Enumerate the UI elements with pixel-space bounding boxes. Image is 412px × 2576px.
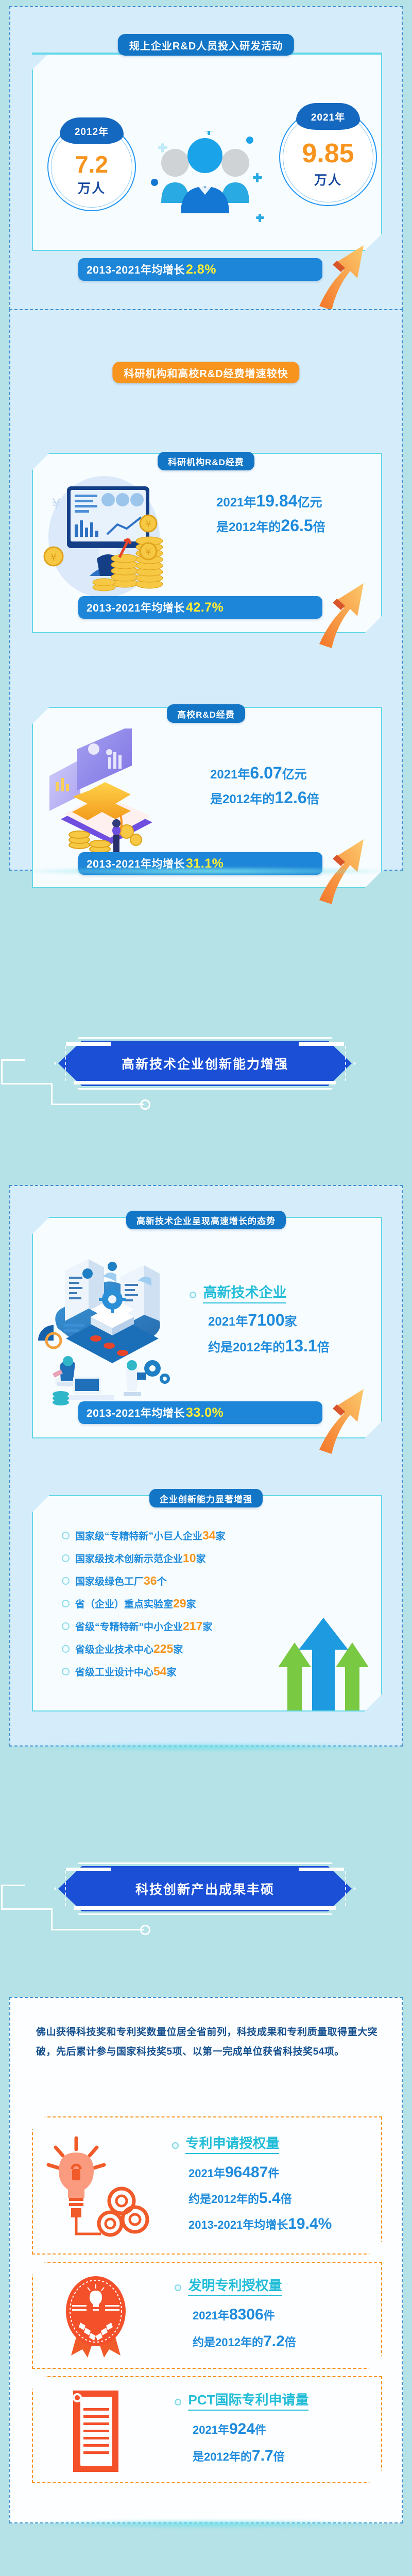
- stat-suffix: 倍: [307, 792, 319, 806]
- item-text: 国家级“专精特新”小巨人企业: [75, 1529, 202, 1543]
- chevron-dash-right: [345, 1871, 346, 1906]
- stat-prefix: 2021年: [216, 496, 256, 510]
- isometric-yen-illustration-icon: [40, 728, 174, 857]
- section4-panel-inner: 佛山获得科技奖和专利奖数量位居全省前列，科技成果和专利质量取得重大突破，先后累计…: [9, 1997, 403, 2523]
- section1-panel-inner: 规上企业R&D人员投入研发活动 7.2 万人 2012年 9.85 万人 202…: [9, 6, 403, 320]
- section1-title-pill: 规上企业R&D人员投入研发活动: [118, 34, 294, 56]
- list-item: 省（企业）重点实验室29家: [62, 1597, 340, 1611]
- section1-panel: 规上企业R&D人员投入研发活动 7.2 万人 2012年 9.85 万人 202…: [9, 6, 403, 320]
- monitor-coins-illustration-icon: ¥ ¥ ¥ ¥: [42, 475, 176, 604]
- chevron-tail: [0, 1041, 154, 1108]
- section4-paragraph: 佛山获得科技奖和专利奖数量位居全省前列，科技成果和专利质量取得重大突破，先后累计…: [36, 2023, 381, 2062]
- circle-value: 7.2: [47, 152, 136, 176]
- stat-prefix: 2013-2021年均增长: [188, 2218, 288, 2231]
- card-head-wrap: 专利申请授权量: [172, 2133, 279, 2154]
- card-stat-line: 2013-2021年均增长19.4%: [188, 2215, 332, 2233]
- section2-card1-stat2: 是2012年的26.5倍: [216, 516, 325, 535]
- card-stat-line: 约是2012年的7.2倍: [193, 2333, 296, 2350]
- stat-number: 96487: [225, 2164, 268, 2181]
- up-arrow-icon: [314, 572, 371, 654]
- section2-card2-title: 高校R&D经费: [177, 707, 235, 720]
- stat-prefix: 是2012年的: [193, 2450, 252, 2463]
- card-stat-line: 是2012年的7.7倍: [193, 2447, 285, 2465]
- stat-suffix: 倍: [273, 2450, 285, 2463]
- stat-suffix: 倍: [317, 1341, 330, 1354]
- cloud-server-illustration-icon: [35, 1252, 190, 1422]
- stat-suffix: 亿元: [282, 768, 307, 782]
- section4-panel: 佛山获得科技奖和专利奖数量位居全省前列，科技成果和专利质量取得重大突破，先后累计…: [9, 1997, 403, 2523]
- stat-suffix: 倍: [281, 2193, 292, 2206]
- panel-glow: [14, 867, 398, 876]
- bullet-circle-icon: [62, 1554, 70, 1562]
- item-text: 国家级绿色工厂: [75, 1574, 144, 1588]
- chevron-tail: [0, 1866, 154, 1933]
- stat-suffix: 倍: [313, 520, 325, 534]
- section3-card1-stat2: 约是2012年的13.1倍: [208, 1336, 330, 1355]
- stat-prefix: 2021年: [193, 2424, 229, 2436]
- chevron-dash-right: [345, 1046, 346, 1081]
- item-unit: 家: [186, 1597, 196, 1611]
- section2-card2-stat2: 是2012年的12.6倍: [210, 788, 319, 807]
- card-head-wrap: 发明专利授权量: [175, 2275, 282, 2296]
- section2-title-pill: 科研机构和高校R&D经费增速较快: [112, 362, 299, 383]
- bullet-circle-icon: [62, 1577, 70, 1585]
- stat-number: 13.1: [285, 1336, 317, 1355]
- item-text: 省级企业技术中心: [75, 1642, 153, 1656]
- circle-badge-2021: 9.85 万人 2021年: [279, 108, 377, 206]
- stat-number: 19.4%: [288, 2215, 332, 2232]
- card-head: PCT国际专利申请量: [188, 2389, 308, 2411]
- item-number: 34: [202, 1529, 216, 1543]
- card-head: 发明专利授权量: [188, 2275, 282, 2296]
- stat-prefix: 2021年: [193, 2309, 229, 2322]
- item-text: 省级工业设计中心: [75, 1665, 153, 1679]
- section3-card1-stat-head-wrap: 高新技术企业: [190, 1281, 286, 1303]
- stat-number: 7.7: [252, 2447, 273, 2464]
- growth-label: 2013-2021年均增长: [87, 262, 185, 277]
- list-item: 国家级技术创新示范企业10家: [62, 1551, 340, 1565]
- list-item: 国家级绿色工厂36个: [62, 1574, 340, 1588]
- up-arrow-icon: [314, 234, 371, 316]
- stat-suffix: 倍: [285, 2336, 296, 2349]
- panel-glow: [14, 2519, 398, 2529]
- lightbulb-gear-icon: [44, 2136, 163, 2239]
- section2-card1-growth-ribbon: 2013-2021年均增长 42.7%: [78, 596, 322, 619]
- section2-panel-inner: 科研机构和高校R&D经费增速较快 科研机构R&D经费: [9, 309, 403, 871]
- svg-text:¥: ¥: [146, 519, 151, 530]
- section3-card2-title-pill: 企业创新能力显著增强: [149, 1489, 263, 1507]
- chevron-top-bar-right: [299, 1042, 344, 1046]
- growth-value: 2.8%: [186, 262, 216, 277]
- item-text: 国家级技术创新示范企业: [75, 1551, 183, 1565]
- section3-panel-inner: 高新技术企业呈现高速增长的态势: [9, 1185, 403, 1747]
- section4-card-0: 专利申请授权量 2021年96487件 约是2012年的5.4倍 2013-20…: [32, 2116, 382, 2255]
- item-text: 省（企业）重点实验室: [75, 1597, 173, 1611]
- item-unit: 个: [157, 1574, 167, 1588]
- document-icon: [59, 2385, 141, 2478]
- section2-card1-title-pill: 科研机构R&D经费: [158, 452, 254, 470]
- section2-card2-stat1: 2021年6.07亿元: [210, 764, 307, 783]
- growth-value: 42.7%: [186, 600, 224, 615]
- stat-number: 5.4: [259, 2190, 281, 2207]
- card-stat-line: 2021年8306件: [193, 2306, 275, 2324]
- card-stat-line: 2021年924件: [193, 2420, 266, 2438]
- item-unit: 家: [216, 1529, 226, 1543]
- item-number: 225: [153, 1642, 173, 1656]
- bullet-circle-icon: [175, 2284, 181, 2291]
- section2-title: 科研机构和高校R&D经费增速较快: [124, 365, 288, 380]
- stat-prefix: 2021年: [210, 768, 250, 782]
- section1-growth-ribbon: 2013-2021年均增长 2.8%: [78, 258, 322, 281]
- stat-suffix: 件: [255, 2424, 266, 2436]
- stat-number: 19.84: [256, 492, 297, 510]
- section3-card1-growth-ribbon: 2013-2021年均增长 33.0%: [78, 1401, 322, 1424]
- item-number: 29: [173, 1597, 186, 1611]
- up-arrow-icon: [314, 1378, 371, 1460]
- bullet-circle-icon: [175, 2399, 181, 2405]
- circle-badge-2012: 7.2 万人 2012年: [47, 123, 136, 211]
- item-unit: 家: [196, 1551, 206, 1565]
- card-head-wrap: PCT国际专利申请量: [175, 2389, 308, 2411]
- stat-head: 高新技术企业: [203, 1281, 286, 1303]
- stat-number: 7.2: [263, 2333, 285, 2350]
- circle-value: 9.85: [279, 140, 377, 167]
- section4-header-text: 科技创新产出成果丰硕: [135, 1879, 274, 1898]
- bullet-circle-icon: [190, 1292, 196, 1298]
- stat-prefix: 2021年: [208, 1315, 248, 1329]
- item-number: 10: [183, 1551, 196, 1565]
- panel-glow: [14, 1742, 398, 1752]
- bullet-circle-icon: [62, 1622, 70, 1630]
- item-unit: 家: [173, 1642, 183, 1656]
- growth-value: 33.0%: [186, 1405, 224, 1420]
- circle-year-cap: 2021年: [296, 103, 360, 130]
- section3-card2-title: 企业创新能力显著增强: [160, 1492, 252, 1505]
- item-number: 54: [153, 1665, 167, 1679]
- svg-text:¥: ¥: [146, 547, 151, 557]
- list-item: 国家级“专精特新”小巨人企业34家: [62, 1529, 340, 1543]
- stat-suffix: 件: [268, 2167, 279, 2180]
- section4-card-1: 发明专利授权量 2021年8306件 约是2012年的7.2倍: [32, 2262, 382, 2369]
- section3-card1-stat1: 2021年7100家: [208, 1311, 297, 1330]
- stat-prefix: 是2012年的: [216, 520, 281, 534]
- stat-suffix: 家: [285, 1315, 297, 1329]
- stat-prefix: 约是2012年的: [193, 2336, 263, 2349]
- item-unit: 家: [202, 1619, 212, 1633]
- stat-prefix: 约是2012年的: [208, 1341, 285, 1354]
- item-number: 217: [183, 1619, 202, 1633]
- item-unit: 家: [167, 1665, 177, 1679]
- section3-card1-title: 高新技术企业呈现高速增长的态势: [136, 1214, 276, 1227]
- section4-header-wrap: 科技创新产出成果丰硕: [0, 1866, 412, 1933]
- growth-label: 2013-2021年均增长: [87, 1405, 185, 1420]
- bullet-circle-icon: [172, 2142, 179, 2149]
- award-medal-icon: [53, 2273, 145, 2366]
- stat-number: 8306: [229, 2306, 264, 2323]
- item-text: 省级“专精特新”中小企业: [75, 1619, 183, 1633]
- bullet-circle-icon: [62, 1600, 70, 1607]
- bullet-circle-icon: [62, 1668, 70, 1675]
- stat-prefix: 约是2012年的: [188, 2193, 259, 2206]
- section3-card1-title-pill: 高新技术企业呈现高速增长的态势: [126, 1211, 286, 1229]
- section2-card1-title: 科研机构R&D经费: [168, 455, 244, 468]
- section2-card2-title-pill: 高校R&D经费: [167, 704, 245, 723]
- stat-number: 924: [229, 2420, 255, 2437]
- card-stat-line: 2021年96487件: [188, 2164, 279, 2181]
- people-illustration-icon: [147, 131, 265, 224]
- svg-text:¥: ¥: [50, 552, 57, 563]
- stat-number: 7100: [248, 1311, 284, 1329]
- stat-number: 26.5: [281, 516, 313, 535]
- section3-header-wrap: 高新技术企业创新能力增强: [0, 1041, 412, 1108]
- card-stat-line: 约是2012年的5.4倍: [188, 2190, 292, 2207]
- bullet-circle-icon: [62, 1645, 70, 1653]
- circle-unit: 万人: [279, 170, 377, 189]
- stat-prefix: 是2012年的: [210, 792, 274, 806]
- growth-label: 2013-2021年均增长: [87, 600, 185, 615]
- section2-card1-stat1: 2021年19.84亿元: [216, 492, 322, 511]
- stat-suffix: 件: [264, 2309, 275, 2322]
- circle-year-cap: 2012年: [60, 117, 124, 144]
- chevron-top-bar-right: [299, 1868, 344, 1871]
- svg-text:¥: ¥: [51, 495, 61, 513]
- stat-number: 12.6: [274, 788, 306, 807]
- section3-panel: 高新技术企业呈现高速增长的态势: [9, 1185, 403, 1747]
- stat-prefix: 2021年: [188, 2167, 225, 2180]
- growth-arrows-icon: [272, 1618, 375, 1710]
- stat-number: 6.07: [250, 764, 282, 782]
- bullet-circle-icon: [62, 1532, 70, 1539]
- card-head: 专利申请授权量: [185, 2133, 279, 2154]
- item-number: 36: [144, 1574, 157, 1588]
- section4-card-2: PCT国际专利申请量 2021年924件 是2012年的7.7倍: [32, 2376, 382, 2483]
- section2-panel: 科研机构和高校R&D经费增速较快 科研机构R&D经费: [9, 309, 403, 871]
- circle-unit: 万人: [47, 178, 136, 197]
- stat-suffix: 亿元: [297, 496, 322, 510]
- section1-title: 规上企业R&D人员投入研发活动: [129, 38, 283, 53]
